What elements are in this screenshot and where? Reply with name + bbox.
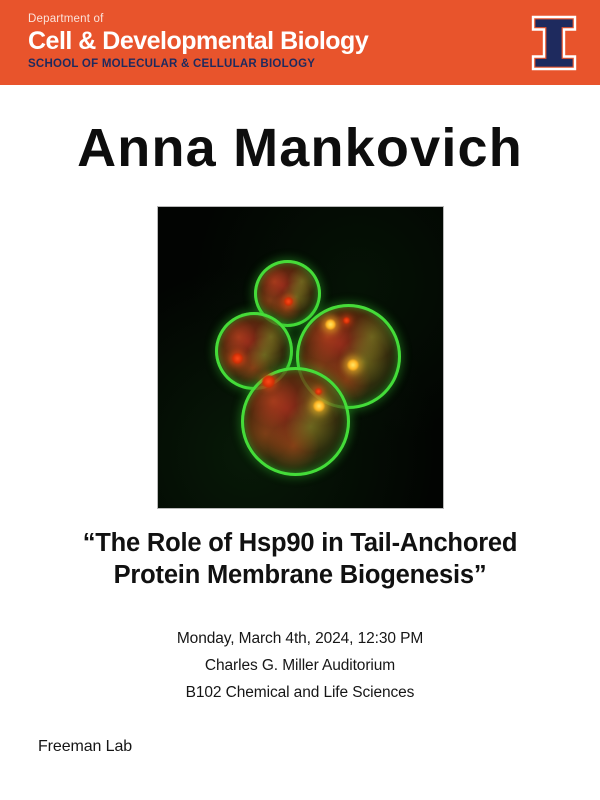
lab-affiliation: Freeman Lab [38,738,132,756]
event-datetime: Monday, March 4th, 2024, 12:30 PM [0,625,600,652]
cell-focus-punctum [284,297,293,306]
cell-focus-punctum [313,400,325,412]
cell-focus-punctum [315,388,322,395]
event-room: B102 Chemical and Life Sciences [0,679,600,706]
event-logistics: Monday, March 4th, 2024, 12:30 PM Charle… [0,625,600,706]
cell-focus-punctum [262,375,275,388]
school-name: SCHOOL OF MOLECULAR & CELLULAR BIOLOGY [28,58,448,71]
microscopy-canvas [158,207,443,508]
illinois-block-i-icon [520,9,588,77]
talk-title: “The Role of Hsp90 in Tail-Anchored Prot… [0,527,600,591]
department-name: Cell & Developmental Biology [28,28,448,55]
talk-title-line-1: “The Role of Hsp90 in Tail-Anchored [0,527,600,559]
header-banner: Department of Cell & Developmental Biolo… [0,0,600,85]
cell-focus-punctum [343,317,350,324]
speaker-name: Anna Mankovich [0,116,600,180]
microscopy-figure [157,206,444,509]
department-eyebrow: Department of [28,12,448,26]
talk-title-line-2: Protein Membrane Biogenesis” [0,559,600,591]
cell-focus-punctum [232,353,243,364]
yeast-cell [241,367,350,476]
event-venue: Charles G. Miller Auditorium [0,652,600,679]
cell-focus-punctum [347,359,359,371]
cell-focus-punctum [325,319,336,330]
header-text-block: Department of Cell & Developmental Biolo… [28,12,448,71]
